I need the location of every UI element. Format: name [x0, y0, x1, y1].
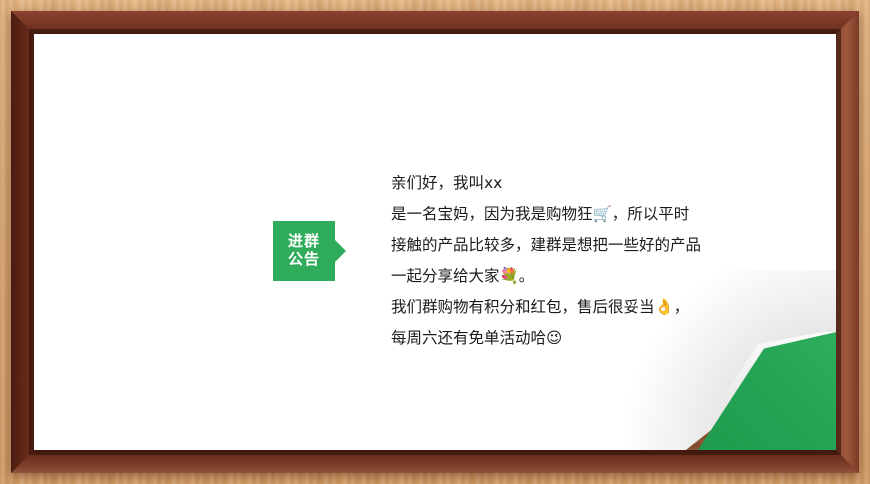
badge-pointer-arrow	[335, 240, 346, 262]
badge-line-2: 公告	[288, 251, 320, 269]
announcement-line: 一起分享给大家💐。	[391, 261, 741, 292]
picture-frame: 进群 公告 亲们好，我叫xx 是一名宝妈，因为我是购物狂🛒，所以平时 接触的产品…	[11, 11, 859, 473]
badge-line-1: 进群	[288, 233, 320, 251]
white-board: 进群 公告 亲们好，我叫xx 是一名宝妈，因为我是购物狂🛒，所以平时 接触的产品…	[34, 34, 836, 450]
announcement-line: 每周六还有免单活动哈😉	[391, 323, 741, 354]
announcement-line: 是一名宝妈，因为我是购物狂🛒，所以平时	[391, 199, 741, 230]
desk-scene: 进群 公告 亲们好，我叫xx 是一名宝妈，因为我是购物狂🛒，所以平时 接触的产品…	[0, 0, 870, 484]
announcement-line: 接触的产品比较多，建群是想把一些好的产品	[391, 230, 741, 261]
announcement-text-block: 亲们好，我叫xx 是一名宝妈，因为我是购物狂🛒，所以平时 接触的产品比较多，建群…	[391, 168, 741, 354]
join-group-announcement-badge[interactable]: 进群 公告	[273, 221, 335, 281]
announcement-line: 我们群购物有积分和红包，售后很妥当👌，	[391, 292, 741, 323]
announcement-line: 亲们好，我叫xx	[391, 168, 741, 199]
